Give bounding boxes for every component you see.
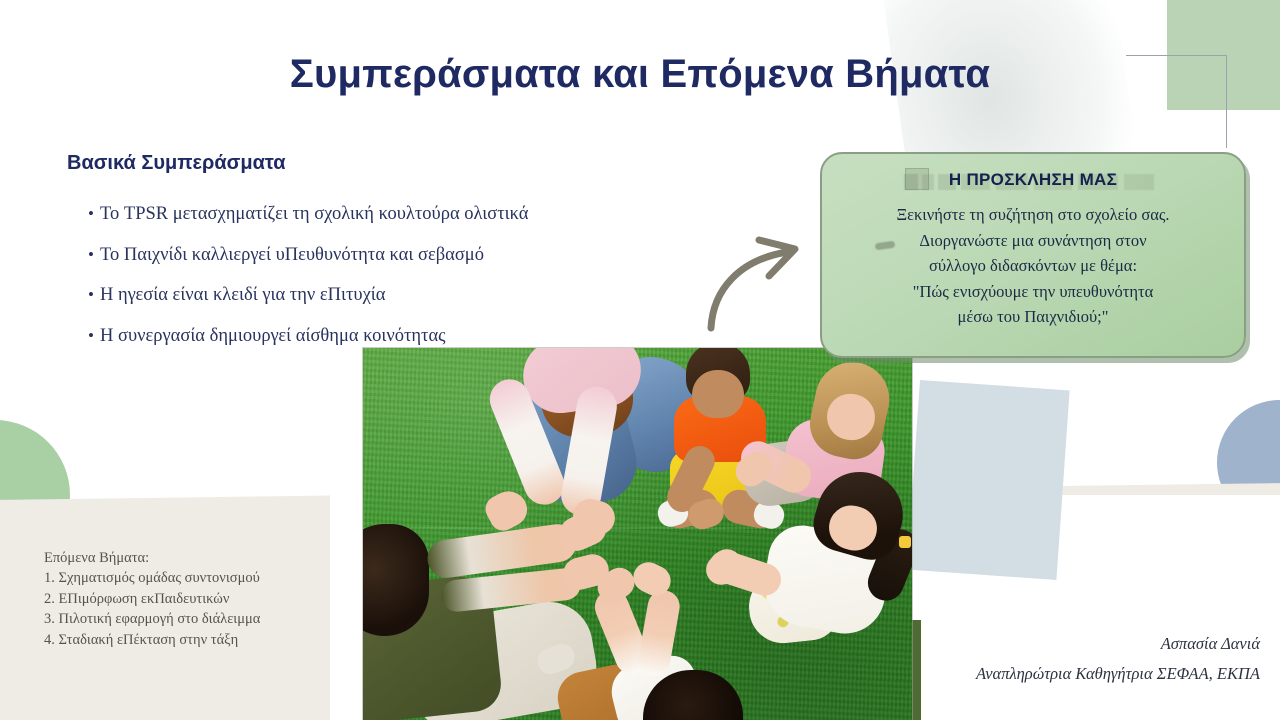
invitation-card: Η ΠΡΟΣΚΛΗΣΗ ΜΑΣ Ξεκινήστε τη συζήτηση στ… [820, 152, 1246, 358]
photo-figure-white-dress-girl [783, 478, 912, 658]
invitation-body-line: Ξεκινήστε τη συζήτηση στο σχολείο σας. [842, 202, 1224, 228]
list-item-label: Η ηγεσία είναι κλειδί για την εΠιτυχία [100, 281, 642, 310]
bullet-dot-icon: • [82, 322, 100, 349]
invitation-body-line: Διοργανώστε μια συνάντηση στον [842, 228, 1224, 254]
author-name: Ασπασία Δανιά [700, 634, 1260, 654]
bullet-dot-icon: • [82, 200, 100, 227]
list-item: • Η ηγεσία είναι κλειδί για την εΠιτυχία [82, 281, 642, 310]
list-item: • Το TPSR μετασχηματίζει τη σχολική κουλ… [82, 200, 642, 229]
list-item-label: Το TPSR μετασχηματίζει τη σχολική κουλτο… [100, 200, 642, 229]
list-item: • Το Παιχνίδι καλλιεργεί υΠευθυνότητα κα… [82, 241, 642, 270]
bullet-dot-icon: • [82, 281, 100, 308]
list-item-label: Η συνεργασία δημιουργεί αίσθημα κοινότητ… [100, 322, 642, 351]
photo-figure-part [899, 536, 911, 548]
conclusions-bullet-list: • Το TPSR μετασχηματίζει τη σχολική κουλ… [82, 200, 642, 362]
list-item-label: Το Παιχνίδι καλλιεργεί υΠευθυνότητα και … [100, 241, 642, 270]
author-role: Αναπληρώτρια Καθηγήτρια ΣΕΦΑΑ, ΕΚΠΑ [700, 664, 1260, 684]
curved-arrow-icon [695, 232, 815, 332]
invitation-body-line: "Πώς ενισχύουμε την υπευθυνότητα [842, 279, 1224, 305]
photo-figure-part [363, 524, 429, 636]
background-blue-circle [1217, 400, 1280, 525]
invitation-body-line: σύλλογο διδασκόντων με θέμα: [842, 253, 1224, 279]
bullet-dot-icon: • [82, 241, 100, 268]
page-title: Συμπεράσματα και Επόμενα Βήματα [0, 52, 1280, 97]
invitation-body: Ξεκινήστε τη συζήτηση στο σχολείο σας. Δ… [842, 202, 1224, 330]
list-item: • Η συνεργασία δημιουργεί αίσθημα κοινότ… [82, 322, 642, 351]
section-heading-conclusions: Βασικά Συμπεράσματα [67, 152, 286, 175]
photo-figure-part [692, 370, 744, 418]
invitation-heading: Η ΠΡΟΣΚΛΗΣΗ ΜΑΣ [822, 170, 1244, 190]
next-steps-item: 2. ΕΠιμόρφωση εκΠαιδευτικών [44, 589, 344, 609]
background-blue-panel [907, 380, 1070, 580]
next-steps-item: 1. Σχηματισμός ομάδας συντονισμού [44, 568, 344, 588]
next-steps-block: Επόμενα Βήματα: 1. Σχηματισμός ομάδας συ… [44, 548, 344, 650]
next-steps-item: 3. Πιλοτική εφαρμογή στο διάλειμμα [44, 609, 344, 629]
slide-canvas: Συμπεράσματα και Επόμενα Βήματα Βασικά Σ… [0, 0, 1280, 720]
next-steps-item: 4. Σταδιακή εΠέκταση στην τάξη [44, 630, 344, 650]
next-steps-heading: Επόμενα Βήματα: [44, 548, 344, 568]
invitation-body-line: μέσω του Παιχνιδιού;" [842, 304, 1224, 330]
